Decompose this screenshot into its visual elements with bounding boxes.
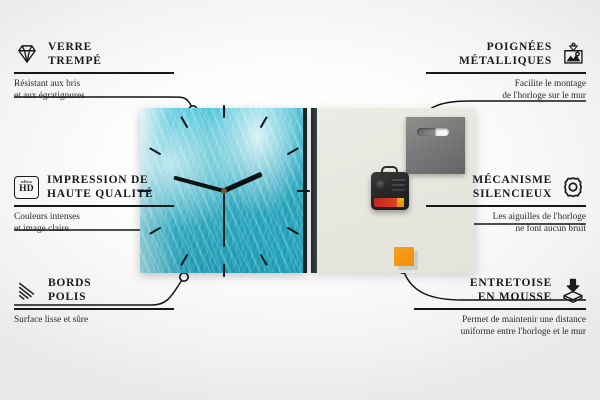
callout-title: MÉCANISME SILENCIEUX xyxy=(472,173,552,201)
clock-tick xyxy=(259,116,267,128)
wall-hanging-picture-icon xyxy=(560,41,586,67)
press-down-foam-icon xyxy=(560,277,586,303)
callout-title: ENTRETOISE EN MOUSSE xyxy=(470,276,552,304)
callout-description: Couleurs intenses et image claire xyxy=(14,211,219,236)
gear-icon xyxy=(560,174,586,200)
callout-header: BORDS POLIS xyxy=(14,276,219,304)
callout-mecanisme-silencieux[interactable]: MÉCANISME SILENCIEUX Les aiguilles de l'… xyxy=(381,173,586,235)
clock-second-hand xyxy=(223,191,225,247)
callout-title: VERRE TREMPÉ xyxy=(48,40,102,68)
callout-title: BORDS POLIS xyxy=(48,276,91,304)
callout-poignees-metalliques[interactable]: POIGNÉES MÉTALLIQUES Facilite le montage… xyxy=(381,40,586,102)
callout-title: POIGNÉES MÉTALLIQUES xyxy=(459,40,552,68)
callout-bords-polis[interactable]: BORDS POLIS Surface lisse et sûre xyxy=(14,276,219,326)
clock-tick xyxy=(223,264,225,277)
callout-description: Surface lisse et sûre xyxy=(14,314,219,326)
callout-header: ultra HD IMPRESSION DE HAUTE QUALITÉ xyxy=(14,173,219,201)
clock-tick xyxy=(286,226,298,234)
clock-tick xyxy=(297,190,310,192)
clock-tick xyxy=(223,105,225,118)
callout-header: POIGNÉES MÉTALLIQUES xyxy=(381,40,586,68)
ultra-hd-icon: ultra HD xyxy=(14,176,39,199)
metal-hanger-plate xyxy=(406,117,465,174)
callout-description: Facilite le montage de l'horloge sur le … xyxy=(381,78,586,103)
clock-tick xyxy=(259,253,267,265)
callout-description: Les aiguilles de l'horloge ne font aucun… xyxy=(381,211,586,236)
polished-edges-icon xyxy=(14,277,40,303)
callout-divider xyxy=(14,205,174,207)
foam-spacer xyxy=(394,247,414,266)
callout-header: VERRE TREMPÉ xyxy=(14,40,219,68)
callout-divider xyxy=(414,308,586,310)
callout-description: Permet de maintenir une distance uniform… xyxy=(381,314,586,339)
callout-divider xyxy=(426,205,586,207)
diamond-icon xyxy=(14,41,40,67)
callout-header: MÉCANISME SILENCIEUX xyxy=(381,173,586,201)
callout-verre-trempe[interactable]: VERRE TREMPÉ Résistant aux bris et aux é… xyxy=(14,40,219,102)
clock-center-cap xyxy=(221,188,227,194)
callout-divider xyxy=(14,308,174,310)
callout-description: Résistant aux bris et aux égratignures xyxy=(14,78,219,103)
callout-impression-haute-qualite[interactable]: ultra HD IMPRESSION DE HAUTE QUALITÉ Cou… xyxy=(14,173,219,235)
callout-divider xyxy=(426,72,586,74)
callout-divider xyxy=(14,72,174,74)
infographic-stage: VERRE TREMPÉ Résistant aux bris et aux é… xyxy=(0,0,600,400)
clock-tick xyxy=(180,253,188,265)
callout-entretoise-en-mousse[interactable]: ENTRETOISE EN MOUSSE Permet de maintenir… xyxy=(381,276,586,338)
callout-title: IMPRESSION DE HAUTE QUALITÉ xyxy=(47,173,154,201)
callout-header: ENTRETOISE EN MOUSSE xyxy=(381,276,586,304)
clock-tick xyxy=(180,116,188,128)
clock-tick xyxy=(286,147,298,155)
clock-hour-hand xyxy=(222,171,262,193)
clock-tick xyxy=(149,147,161,155)
hanger-keyhole-slot xyxy=(417,128,449,136)
